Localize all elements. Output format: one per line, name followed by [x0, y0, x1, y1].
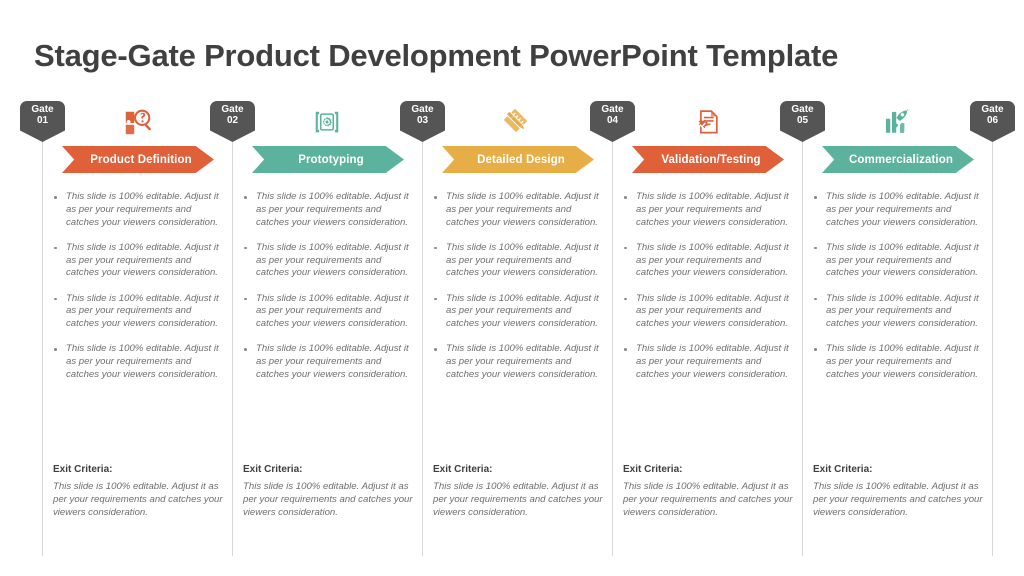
bullet-dot-icon [244, 247, 247, 250]
bullet-dot-icon [434, 196, 437, 199]
column-divider [42, 122, 43, 556]
blueprint-gear-icon [311, 106, 343, 138]
bullet-text: This slide is 100% editable. Adjust it a… [256, 293, 412, 331]
bullet-text: This slide is 100% editable. Adjust it a… [826, 343, 982, 381]
exit-criteria-heading: Exit Criteria: [623, 464, 795, 475]
column-divider [992, 122, 993, 556]
bullet-dot-icon [434, 348, 437, 351]
column-divider [612, 122, 613, 556]
list-item: This slide is 100% editable. Adjust it a… [240, 191, 412, 229]
exit-criteria-block: Exit Criteria:This slide is 100% editabl… [433, 464, 605, 519]
column-divider [802, 122, 803, 556]
bullet-dot-icon [624, 247, 627, 250]
stage-banner-label: Commercialization [843, 154, 953, 166]
stage-banner[interactable]: Prototyping [252, 146, 404, 173]
exit-criteria-block: Exit Criteria:This slide is 100% editabl… [813, 464, 985, 519]
stage-banner[interactable]: Product Definition [62, 146, 214, 173]
list-item: This slide is 100% editable. Adjust it a… [620, 191, 792, 229]
stage-gate-columns: Gate01Product DefinitionThis slide is 10… [0, 98, 1024, 576]
bullet-text: This slide is 100% editable. Adjust it a… [636, 343, 792, 381]
bullet-dot-icon [624, 196, 627, 199]
list-item: This slide is 100% editable. Adjust it a… [50, 343, 222, 381]
stage-banner-label: Product Definition [84, 154, 191, 166]
bullet-text: This slide is 100% editable. Adjust it a… [446, 293, 602, 331]
bullet-text: This slide is 100% editable. Adjust it a… [826, 191, 982, 229]
page-title: Stage-Gate Product Development PowerPoin… [34, 38, 838, 74]
bullet-text: This slide is 100% editable. Adjust it a… [256, 343, 412, 381]
stage-bullet-list: This slide is 100% editable. Adjust it a… [810, 191, 982, 394]
bullet-text: This slide is 100% editable. Adjust it a… [66, 293, 222, 331]
column-divider [232, 122, 233, 556]
bullet-text: This slide is 100% editable. Adjust it a… [636, 242, 792, 280]
gate-number: 03 [400, 116, 445, 127]
bullet-dot-icon [244, 298, 247, 301]
exit-criteria-heading: Exit Criteria: [433, 464, 605, 475]
exit-criteria-text: This slide is 100% editable. Adjust it a… [813, 481, 985, 519]
stage-column: Gate01Product DefinitionThis slide is 10… [42, 98, 232, 576]
bullet-text: This slide is 100% editable. Adjust it a… [66, 343, 222, 381]
list-item: This slide is 100% editable. Adjust it a… [810, 343, 982, 381]
list-item: This slide is 100% editable. Adjust it a… [810, 242, 982, 280]
bullet-dot-icon [814, 196, 817, 199]
bullet-dot-icon [434, 298, 437, 301]
bullet-dot-icon [624, 298, 627, 301]
stage-bullet-list: This slide is 100% editable. Adjust it a… [50, 191, 222, 394]
gate-number: 01 [20, 116, 65, 127]
bullet-text: This slide is 100% editable. Adjust it a… [256, 242, 412, 280]
bullet-text: This slide is 100% editable. Adjust it a… [636, 191, 792, 229]
list-item: This slide is 100% editable. Adjust it a… [810, 293, 982, 331]
stage-banner-label: Prototyping [292, 154, 364, 166]
bullet-dot-icon [814, 298, 817, 301]
list-item: This slide is 100% editable. Adjust it a… [50, 242, 222, 280]
stage-column: Gate05Gate06CommercializationThis slide … [802, 98, 992, 576]
bullet-dot-icon [54, 298, 57, 301]
list-item: This slide is 100% editable. Adjust it a… [50, 293, 222, 331]
bullet-dot-icon [54, 196, 57, 199]
bullet-text: This slide is 100% editable. Adjust it a… [826, 293, 982, 331]
puzzle-magnifier-question-icon [121, 106, 153, 138]
stage-column: Gate02PrototypingThis slide is 100% edit… [232, 98, 422, 576]
bullet-text: This slide is 100% editable. Adjust it a… [636, 293, 792, 331]
column-divider [422, 122, 423, 556]
bullet-dot-icon [624, 348, 627, 351]
bullet-dot-icon [54, 247, 57, 250]
list-item: This slide is 100% editable. Adjust it a… [430, 293, 602, 331]
bullet-dot-icon [814, 348, 817, 351]
exit-criteria-text: This slide is 100% editable. Adjust it a… [53, 481, 225, 519]
stage-column: Gate04Validation/TestingThis slide is 10… [612, 98, 802, 576]
stage-banner[interactable]: Validation/Testing [632, 146, 784, 173]
list-item: This slide is 100% editable. Adjust it a… [50, 191, 222, 229]
bullet-text: This slide is 100% editable. Adjust it a… [826, 242, 982, 280]
list-item: This slide is 100% editable. Adjust it a… [620, 242, 792, 280]
exit-criteria-text: This slide is 100% editable. Adjust it a… [433, 481, 605, 519]
list-item: This slide is 100% editable. Adjust it a… [430, 191, 602, 229]
exit-criteria-heading: Exit Criteria: [53, 464, 225, 475]
bullet-text: This slide is 100% editable. Adjust it a… [446, 343, 602, 381]
list-item: This slide is 100% editable. Adjust it a… [240, 293, 412, 331]
gate-marker-06[interactable]: Gate06 [970, 101, 1015, 142]
stage-bullet-list: This slide is 100% editable. Adjust it a… [240, 191, 412, 394]
bullet-dot-icon [244, 348, 247, 351]
exit-criteria-heading: Exit Criteria: [243, 464, 415, 475]
stage-banner-label: Validation/Testing [655, 154, 760, 166]
list-item: This slide is 100% editable. Adjust it a… [430, 242, 602, 280]
exit-criteria-heading: Exit Criteria: [813, 464, 985, 475]
exit-criteria-text: This slide is 100% editable. Adjust it a… [623, 481, 795, 519]
gate-marker-01[interactable]: Gate01 [20, 101, 65, 142]
stage-banner[interactable]: Commercialization [822, 146, 974, 173]
gate-number: 05 [780, 116, 825, 127]
bullet-text: This slide is 100% editable. Adjust it a… [446, 191, 602, 229]
bullet-dot-icon [54, 348, 57, 351]
gate-number: 02 [210, 116, 255, 127]
exit-criteria-block: Exit Criteria:This slide is 100% editabl… [623, 464, 795, 519]
list-item: This slide is 100% editable. Adjust it a… [620, 343, 792, 381]
bullet-text: This slide is 100% editable. Adjust it a… [446, 242, 602, 280]
stage-bullet-list: This slide is 100% editable. Adjust it a… [430, 191, 602, 394]
list-item: This slide is 100% editable. Adjust it a… [620, 293, 792, 331]
list-item: This slide is 100% editable. Adjust it a… [810, 191, 982, 229]
pencil-ruler-design-icon [501, 106, 533, 138]
slide-canvas: Stage-Gate Product Development PowerPoin… [0, 0, 1024, 576]
list-item: This slide is 100% editable. Adjust it a… [240, 343, 412, 381]
exit-criteria-block: Exit Criteria:This slide is 100% editabl… [243, 464, 415, 519]
bullet-text: This slide is 100% editable. Adjust it a… [66, 191, 222, 229]
stage-column: Gate03Detailed DesignThis slide is 100% … [422, 98, 612, 576]
stage-bullet-list: This slide is 100% editable. Adjust it a… [620, 191, 792, 394]
exit-criteria-text: This slide is 100% editable. Adjust it a… [243, 481, 415, 519]
bullet-dot-icon [814, 247, 817, 250]
bullet-text: This slide is 100% editable. Adjust it a… [66, 242, 222, 280]
bullet-dot-icon [434, 247, 437, 250]
bullet-dot-icon [244, 196, 247, 199]
bullet-text: This slide is 100% editable. Adjust it a… [256, 191, 412, 229]
list-item: This slide is 100% editable. Adjust it a… [430, 343, 602, 381]
rocket-bar-chart-icon [881, 106, 913, 138]
document-check-seal-icon [691, 106, 723, 138]
list-item: This slide is 100% editable. Adjust it a… [240, 242, 412, 280]
exit-criteria-block: Exit Criteria:This slide is 100% editabl… [53, 464, 225, 519]
stage-banner[interactable]: Detailed Design [442, 146, 594, 173]
gate-number: 04 [590, 116, 635, 127]
stage-banner-label: Detailed Design [471, 154, 565, 166]
gate-number: 06 [970, 116, 1015, 127]
